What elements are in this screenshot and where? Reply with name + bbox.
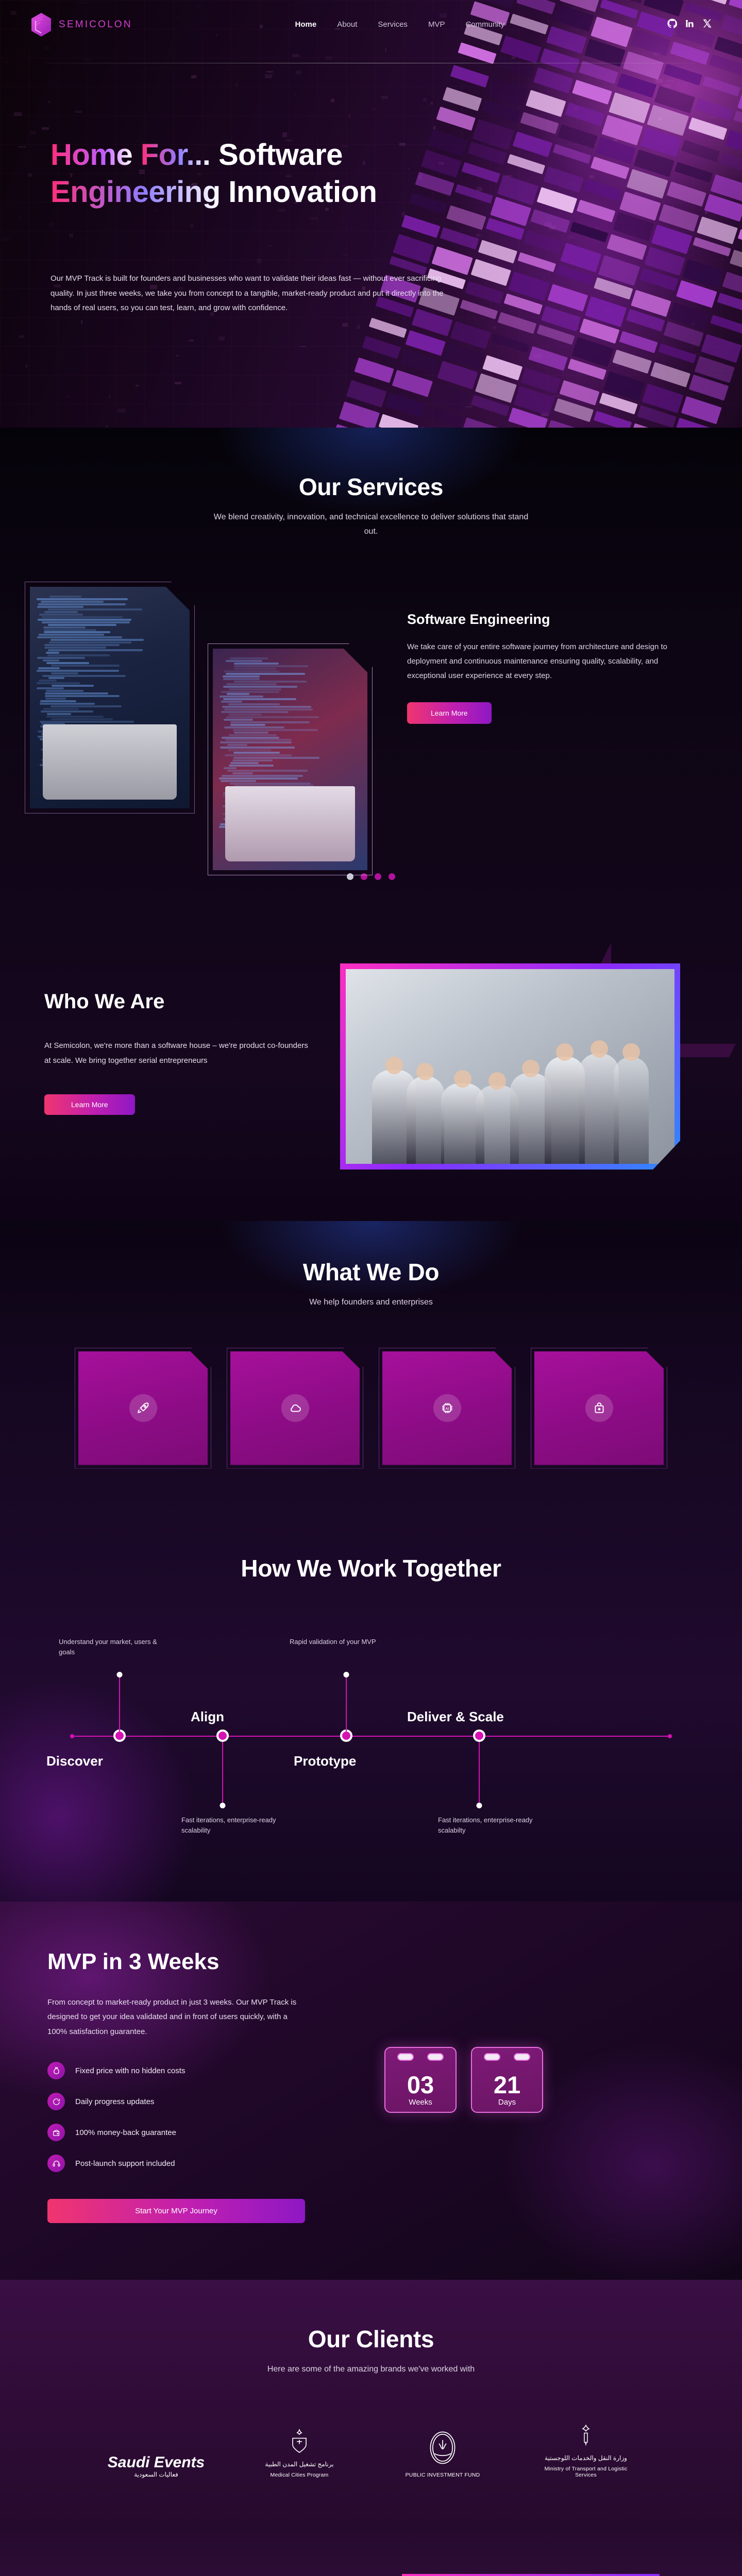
counter-value: 03 xyxy=(407,2073,434,2097)
mvp-feature-label: Daily progress updates xyxy=(75,2097,154,2106)
what-card-cloud[interactable] xyxy=(227,1348,363,1469)
community-photo-frame xyxy=(402,2574,660,2576)
calendar-ring xyxy=(397,2053,414,2061)
what-card-rocket[interactable] xyxy=(75,1348,211,1469)
start-mvp-journey-button[interactable]: Start Your MVP Journey xyxy=(47,2199,305,2223)
timeline-stem-prototype xyxy=(346,1675,347,1736)
client-logo-saudi-events: Saudi Events فعاليات السعودية xyxy=(107,2454,205,2478)
timeline-tip-prototype xyxy=(344,1672,349,1677)
calendar-rings xyxy=(385,2053,456,2061)
mvp-feature-money-back: 100% money-back guarantee xyxy=(47,2124,367,2141)
process-timeline: Understand your market, users & goals Di… xyxy=(37,1618,705,1840)
timeline-tip-discover xyxy=(117,1672,123,1677)
calendar-ring xyxy=(514,2053,530,2061)
mvp-paragraph: From concept to market-ready product in … xyxy=(47,1995,300,2040)
hero-word-for: For... xyxy=(141,138,211,172)
counter-label: Days xyxy=(498,2098,516,2107)
carousel-dot-3[interactable] xyxy=(375,873,381,880)
clients-subheading: Here are some of the amazing brands we'v… xyxy=(0,2362,742,2377)
what-card-ai[interactable]: AI xyxy=(379,1348,515,1469)
mvp-counters: 03 Weeks 21 Days xyxy=(384,1949,543,2224)
service-photo-primary xyxy=(25,582,195,814)
services-section: Our Services We blend creativity, innova… xyxy=(0,428,742,923)
clients-heading: Our Clients xyxy=(0,2325,742,2353)
nav-social-links xyxy=(667,19,712,31)
photo-neon-desk xyxy=(213,649,367,870)
hero-paragraph: Our MVP Track is built for founders and … xyxy=(50,272,463,316)
mvp-feature-label: Fixed price with no hidden costs xyxy=(75,2066,185,2075)
services-carousel: Software Engineering We take care of you… xyxy=(0,571,742,860)
calendar-ring xyxy=(427,2053,444,2061)
brand-name: SEMICOLON xyxy=(59,19,132,30)
service-card-text: We take care of your entire software jou… xyxy=(407,640,680,683)
timeline-node-deliver[interactable] xyxy=(473,1730,485,1742)
nav-item-services[interactable]: Services xyxy=(378,20,408,29)
services-heading: Our Services xyxy=(0,473,742,501)
how-we-work-section: How We Work Together Understand your mar… xyxy=(0,1518,742,1902)
what-subheading: We help founders and enterprises xyxy=(0,1295,742,1310)
who-paragraph: At Semicolon, we're more than a software… xyxy=(44,1038,312,1069)
linkedin-icon xyxy=(685,19,695,28)
headset-support-icon xyxy=(47,2155,65,2172)
counter-value: 21 xyxy=(494,2073,520,2097)
who-learn-more-button[interactable]: Learn More xyxy=(44,1094,135,1115)
ai-chip-icon: AI xyxy=(433,1394,461,1422)
nav-item-community[interactable]: Community xyxy=(465,20,504,29)
client-logo-medical-cities: برنامج تشغيل المدن الطبية Medical Cities… xyxy=(250,2428,348,2478)
what-card-briefcase[interactable] xyxy=(531,1348,667,1469)
x-twitter-link[interactable] xyxy=(702,19,712,31)
nav-item-about[interactable]: About xyxy=(337,20,357,29)
timeline-axis xyxy=(74,1736,668,1737)
x-twitter-icon xyxy=(702,19,712,28)
medical-cities-emblem-icon xyxy=(286,2428,313,2455)
clients-section: Our Clients Here are some of the amazing… xyxy=(0,2280,742,2528)
mvp-feature-daily-updates: Daily progress updates xyxy=(47,2093,367,2110)
hero-word-software: Software xyxy=(218,138,343,172)
github-link[interactable] xyxy=(667,19,677,31)
hero-headline: Home For... Software Engineering Innovat… xyxy=(50,137,479,211)
calendar-rings xyxy=(472,2053,542,2061)
hero-word-home: Home xyxy=(50,138,132,172)
refresh-clock-icon xyxy=(47,2093,65,2110)
nav-item-mvp[interactable]: MVP xyxy=(428,20,445,29)
mvp-feature-list: Fixed price with no hidden costs Daily p… xyxy=(47,2062,367,2172)
timeline-label-deliver: Deliver & Scale xyxy=(407,1709,504,1725)
timeline-label-align: Align xyxy=(191,1709,224,1725)
timeline-node-align[interactable] xyxy=(216,1730,229,1742)
briefcase-lock-icon xyxy=(585,1394,613,1422)
how-heading: How We Work Together xyxy=(0,1554,742,1582)
nav-item-home[interactable]: Home xyxy=(295,20,317,29)
hero-section: SEMICOLON Home About Services MVP Commun… xyxy=(0,0,742,428)
client-logo-caption: Medical Cities Program xyxy=(250,2472,348,2478)
client-logos: Saudi Events فعاليات السعودية برنامج تشغ… xyxy=(0,2422,742,2478)
money-bag-icon xyxy=(47,2062,65,2079)
community-heading: A Community of Builders xyxy=(47,2574,377,2576)
timeline-stem-discover xyxy=(119,1675,120,1736)
timeline-cap-right xyxy=(668,1734,672,1738)
client-logo-caption: PUBLIC INVESTMENT FUND xyxy=(394,2472,492,2478)
mvp-section: MVP in 3 Weeks From concept to market-re… xyxy=(0,1902,742,2280)
what-heading: What We Do xyxy=(0,1258,742,1286)
hero-content: Home For... Software Engineering Innovat… xyxy=(0,49,479,316)
rocket-icon xyxy=(129,1394,157,1422)
timeline-label-prototype: Prototype xyxy=(294,1753,356,1769)
cloud-icon xyxy=(281,1394,309,1422)
counter-weeks: 03 Weeks xyxy=(384,2047,457,2113)
client-logo-ministry-transport: وزارة النقل والخدمات اللوجستية Ministry … xyxy=(537,2422,635,2478)
timeline-label-discover: Discover xyxy=(46,1753,103,1769)
hero-word-innovation: Innovation xyxy=(228,175,377,209)
services-subheading: We blend creativity, innovation, and tec… xyxy=(206,510,536,538)
mvp-heading: MVP in 3 Weeks xyxy=(47,1949,367,1975)
mvp-feature-fixed-price: Fixed price with no hidden costs xyxy=(47,2062,367,2079)
nav-links: Home About Services MVP Community xyxy=(295,20,505,29)
svg-text:AI: AI xyxy=(445,1406,449,1411)
mvp-feature-label: Post-launch support included xyxy=(75,2159,175,2168)
timeline-cap-left xyxy=(70,1734,74,1738)
client-logo-caption: Ministry of Transport and Logistic Servi… xyxy=(537,2466,635,2478)
laptop-graphic xyxy=(43,724,177,800)
service-photo-secondary xyxy=(208,643,373,875)
timeline-note-deliver: Fast iterations, enterprise-ready scalab… xyxy=(438,1815,541,1836)
what-cards: AI xyxy=(0,1348,742,1469)
service-learn-more-button[interactable]: Learn More xyxy=(407,702,492,724)
landing-page: SEMICOLON Home About Services MVP Commun… xyxy=(0,0,742,2576)
wallet-icon xyxy=(47,2124,65,2141)
client-logo-arabic: وزارة النقل والخدمات اللوجستية xyxy=(537,2454,635,2462)
team-photo-frame xyxy=(340,963,680,1170)
hero-word-engineering: Engineering xyxy=(50,175,221,209)
top-navbar: SEMICOLON Home About Services MVP Commun… xyxy=(0,0,742,49)
linkedin-link[interactable] xyxy=(685,19,695,31)
client-logo-arabic: برنامج تشغيل المدن الطبية xyxy=(250,2461,348,2468)
photo-coder-laptop xyxy=(30,587,190,808)
timeline-note-prototype: Rapid validation of your MVP xyxy=(290,1637,393,1647)
service-card-copy: Software Engineering We take care of you… xyxy=(407,612,680,724)
brand-logo[interactable]: SEMICOLON xyxy=(30,12,132,37)
what-we-do-section: What We Do We help founders and enterpri… xyxy=(0,1221,742,1518)
mvp-feature-label: 100% money-back guarantee xyxy=(75,2128,176,2137)
timeline-stem-deliver xyxy=(479,1742,480,1805)
who-we-are-section: Who We Are At Semicolon, we're more than… xyxy=(0,923,742,1221)
client-logo-arabic: فعاليات السعودية xyxy=(107,2471,205,2478)
client-logo-pif: PUBLIC INVESTMENT FUND xyxy=(394,2430,492,2478)
counter-label: Weeks xyxy=(409,2098,432,2107)
who-heading: Who We Are xyxy=(44,990,312,1013)
timeline-note-align: Fast iterations, enterprise-ready scalab… xyxy=(181,1815,284,1836)
counter-days: 21 Days xyxy=(471,2047,543,2113)
carousel-dot-4[interactable] xyxy=(389,873,395,880)
calendar-ring xyxy=(484,2053,500,2061)
community-section: A Community of Builders Connect with fel… xyxy=(0,2528,742,2576)
timeline-note-discover: Understand your market, users & goals xyxy=(59,1637,162,1657)
github-icon xyxy=(667,19,677,28)
client-logo-name: Saudi Events xyxy=(107,2454,205,2471)
team-photo xyxy=(346,969,674,1164)
service-card-title: Software Engineering xyxy=(407,612,680,628)
semicolon-hex-logo-icon xyxy=(30,12,53,37)
timeline-tip-align xyxy=(220,1803,226,1808)
timeline-stem-align xyxy=(222,1742,223,1805)
public-investment-fund-emblem-icon xyxy=(428,2430,457,2465)
mvp-feature-support: Post-launch support included xyxy=(47,2155,367,2172)
timeline-tip-deliver xyxy=(477,1803,482,1808)
keyboard-graphic xyxy=(225,786,355,861)
ministry-transport-emblem-icon xyxy=(574,2422,598,2449)
